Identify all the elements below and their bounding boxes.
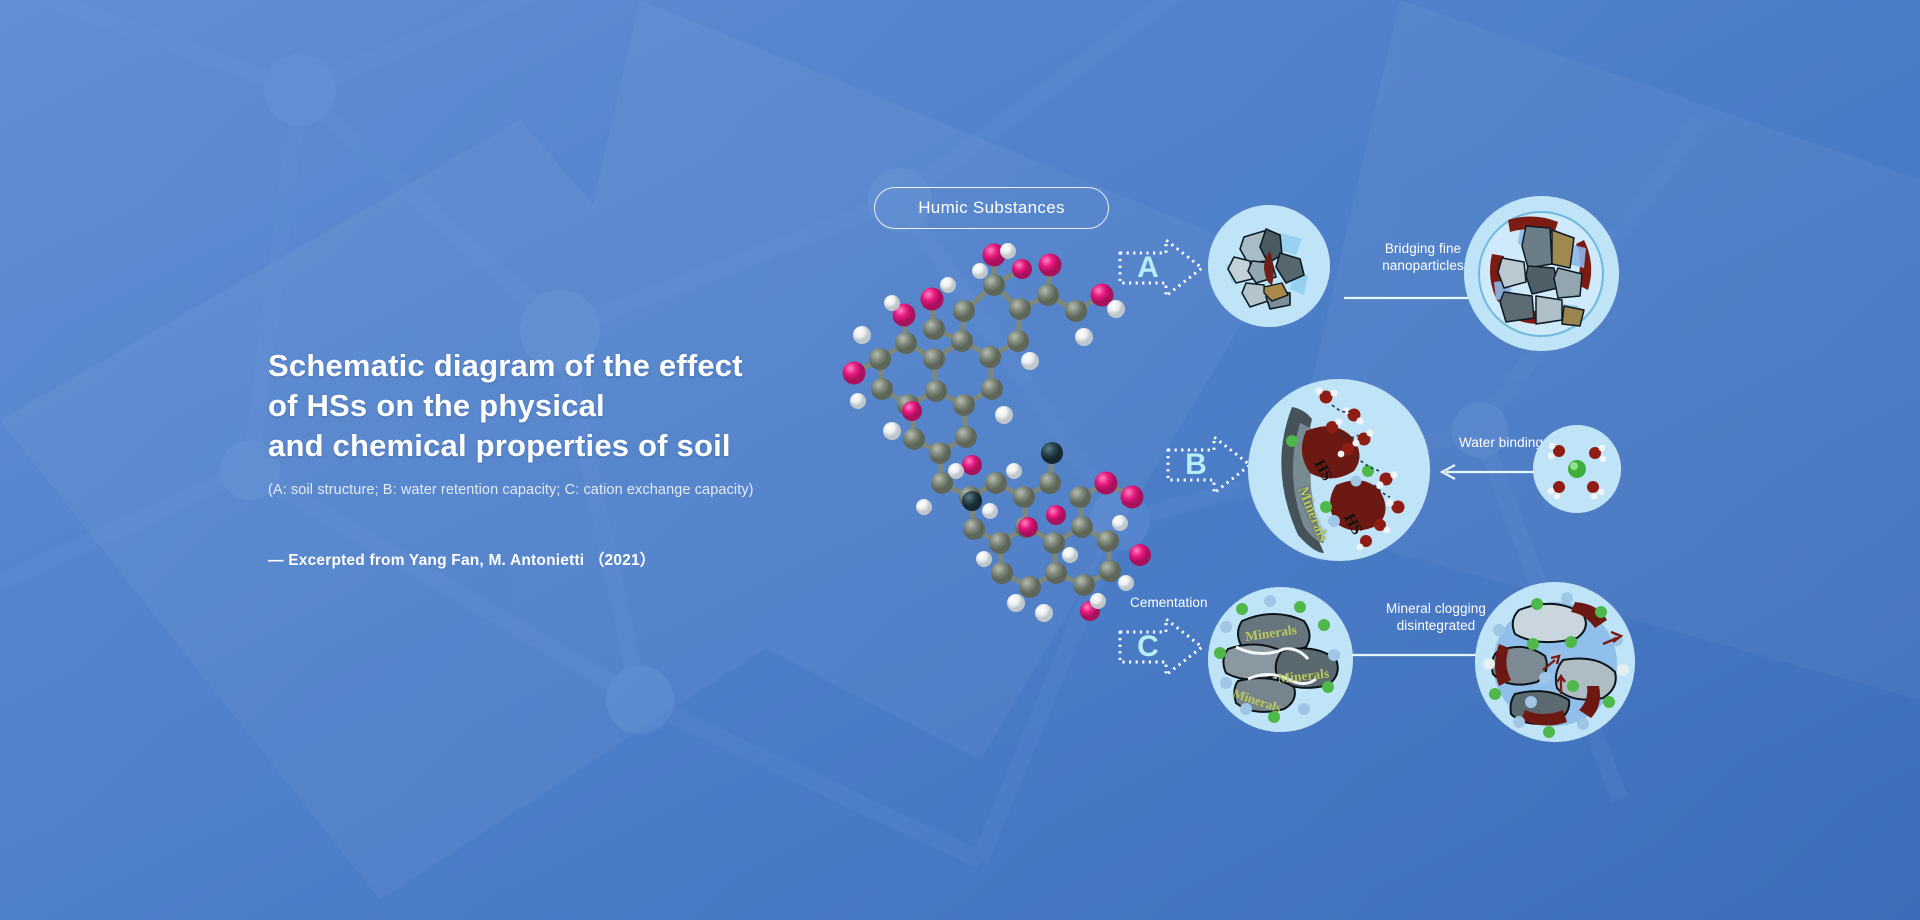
circle-c-cemented-minerals-art: Minerals Minerals Minerals (1208, 587, 1353, 732)
stage-arrow-b: B (1166, 434, 1252, 496)
page-title-line-3: and chemical properties of soil (268, 426, 888, 466)
circle-b-hydrated-cation (1533, 425, 1621, 513)
circle-b-hydrated-cation-art (1533, 425, 1621, 513)
stage-arrow-b-letter: B (1176, 450, 1216, 480)
circle-b-water-retention-art: Minerals HS HS (1248, 379, 1430, 561)
page-title-line-2: of HSs on the physical (268, 386, 888, 426)
circle-b-water-retention: Minerals HS HS (1248, 379, 1430, 561)
page-subtitle: (A: soil structure; B: water retention c… (268, 480, 888, 500)
circle-c-disintegrated (1475, 582, 1635, 742)
circle-a-aggregate-art (1464, 196, 1619, 351)
stage-arrow-a: A (1118, 237, 1204, 299)
title-block: Schematic diagram of the effect of HSs o… (268, 346, 888, 570)
page-title-line-1: Schematic diagram of the effect (268, 346, 888, 386)
humic-substances-label-text: Humic Substances (918, 198, 1065, 218)
stage-arrow-a-letter: A (1128, 253, 1168, 283)
humic-substances-label: Humic Substances (874, 187, 1109, 229)
circle-a-loose-particles (1208, 205, 1330, 327)
circle-a-aggregate (1464, 196, 1619, 351)
circle-a-loose-particles-art (1208, 205, 1330, 327)
source-attribution: — Excerpted from Yang Fan, M. Antonietti… (268, 548, 888, 570)
circle-c-disintegrated-art (1475, 582, 1635, 742)
poster-canvas: Schematic diagram of the effect of HSs o… (0, 0, 1920, 920)
stage-arrow-c-letter: C (1128, 632, 1168, 662)
stage-arrow-c: C (1118, 616, 1204, 678)
circle-c-cemented-minerals: Minerals Minerals Minerals (1208, 587, 1353, 732)
page-title: Schematic diagram of the effect of HSs o… (268, 346, 888, 466)
